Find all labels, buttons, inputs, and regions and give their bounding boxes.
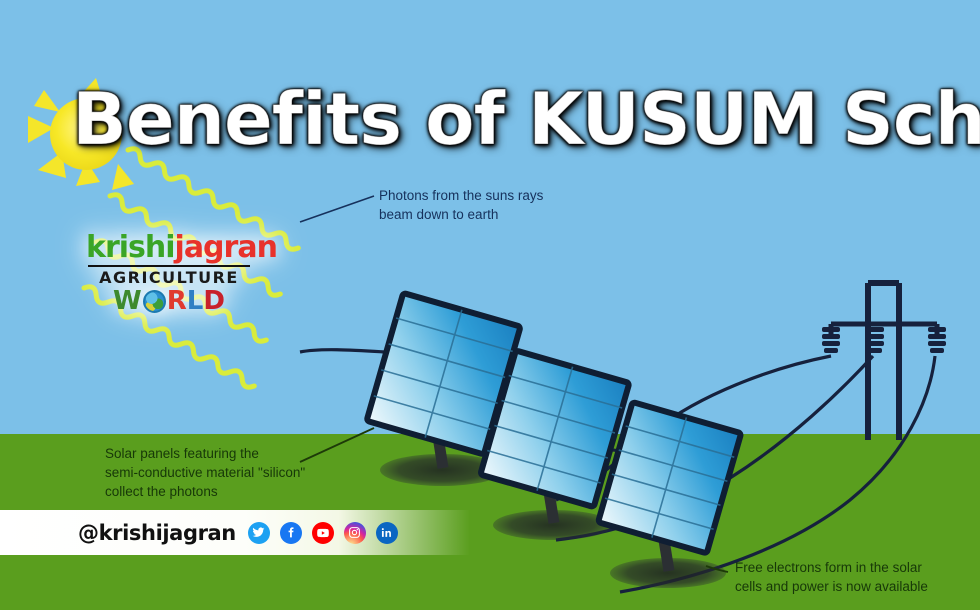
krishijagran-logo[interactable]: krishijagran AGRICULTURE W R L D bbox=[86, 232, 252, 315]
logo-word-jagran: jagran bbox=[175, 230, 277, 265]
social-icon-list bbox=[248, 522, 398, 544]
social-handle: @krishijagran bbox=[78, 521, 236, 545]
page-title: Benefits of KUSUM Scheme bbox=[72, 76, 922, 162]
logo-world-wordmark: W R L D bbox=[86, 287, 252, 315]
logo-world-letter-r: R bbox=[167, 287, 187, 315]
twitter-icon[interactable] bbox=[248, 522, 270, 544]
logo-wordmark: krishijagran bbox=[86, 232, 252, 264]
logo-divider bbox=[88, 265, 250, 267]
annotation-solar-panels: Solar panels featuring the semi-conducti… bbox=[105, 444, 365, 501]
globe-icon bbox=[143, 290, 166, 313]
annotation-photons: Photons from the suns rays beam down to … bbox=[379, 186, 619, 224]
logo-word-krishi: krishi bbox=[86, 230, 175, 265]
social-bar: @krishijagran bbox=[0, 510, 470, 555]
facebook-icon[interactable] bbox=[280, 522, 302, 544]
logo-subtitle: AGRICULTURE bbox=[86, 269, 252, 287]
logo-world-letter-l: L bbox=[187, 287, 204, 315]
instagram-icon[interactable] bbox=[344, 522, 366, 544]
logo-world-letter-w: W bbox=[113, 287, 142, 315]
youtube-icon[interactable] bbox=[312, 522, 334, 544]
logo-world-letter-d: D bbox=[203, 287, 225, 315]
annotation-free-electrons: Free electrons form in the solar cells a… bbox=[735, 558, 980, 596]
infographic-canvas: Benefits of KUSUM Scheme krishijagran AG… bbox=[0, 0, 980, 610]
linkedin-icon[interactable] bbox=[376, 522, 398, 544]
